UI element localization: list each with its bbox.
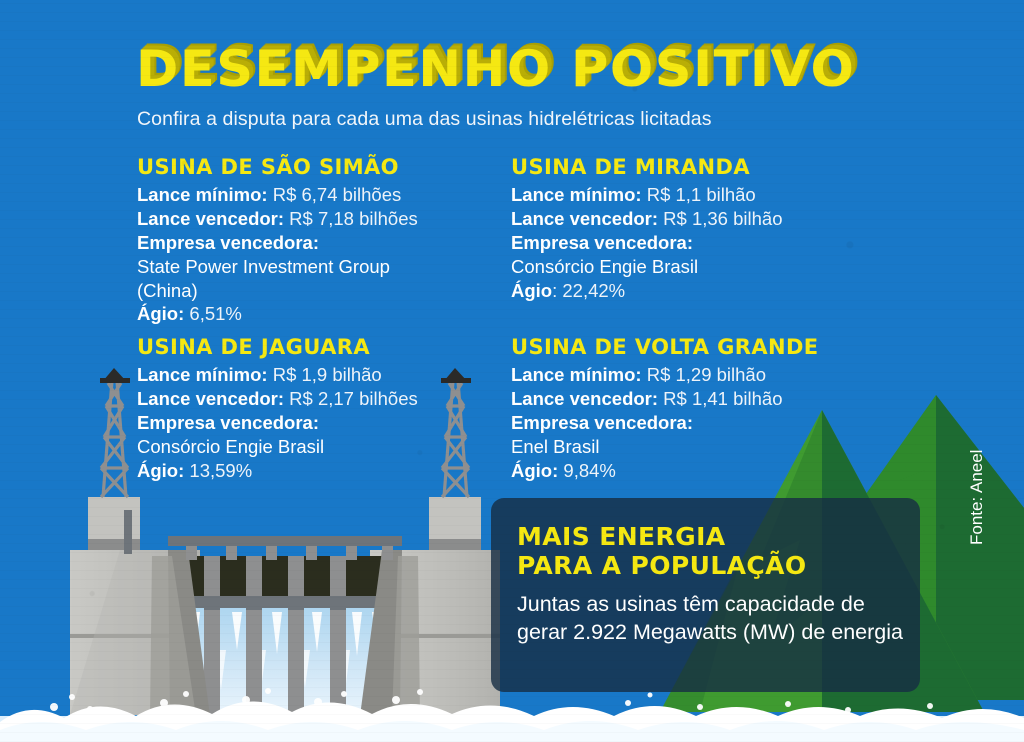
- lance-vencedor-label: Lance vencedor:: [511, 208, 658, 229]
- agio-row: Ágio: 13,59%: [137, 459, 537, 483]
- page-subtitle: Confira a disputa para cada uma das usin…: [137, 108, 712, 131]
- lance-vencedor-value: R$ 2,17 bilhões: [289, 388, 418, 409]
- agio-label: Ágio:: [137, 460, 184, 481]
- empresa-vencedora-label: Empresa vencedora:: [511, 232, 693, 253]
- lance-minimo-row: Lance mínimo: R$ 6,74 bilhões: [137, 183, 537, 207]
- lance-minimo-value: R$ 6,74 bilhões: [273, 184, 402, 205]
- agio-row: Ágio: 22,42%: [511, 279, 911, 303]
- agio-row: Ágio: 6,51%: [137, 302, 537, 326]
- lance-vencedor-value: R$ 7,18 bilhões: [289, 208, 418, 229]
- lance-minimo-label: Lance mínimo:: [511, 364, 642, 385]
- plant-name: USINA DE MIRANDA: [511, 156, 911, 179]
- plant-name: USINA DE SÃO SIMÃO: [137, 156, 537, 179]
- lance-minimo-value: R$ 1,29 bilhão: [647, 364, 766, 385]
- agio-value: 13,59%: [189, 460, 252, 481]
- empresa-vencedora-row: Empresa vencedora:: [137, 231, 537, 255]
- lance-vencedor-row: Lance vencedor: R$ 1,36 bilhão: [511, 207, 911, 231]
- empresa-vencedora-label: Empresa vencedora:: [137, 232, 319, 253]
- lance-vencedor-value: R$ 1,36 bilhão: [663, 208, 782, 229]
- agio-label: Ágio: [511, 280, 552, 301]
- empresa-vencedora-value-line1: Enel Brasil: [511, 435, 911, 459]
- callout-heading: MAIS ENERGIA PARA A POPULAÇÃO: [517, 522, 807, 580]
- lance-minimo-label: Lance mínimo:: [511, 184, 642, 205]
- empresa-vencedora-label: Empresa vencedora:: [511, 412, 693, 433]
- source-credit: Fonte: Aneel: [967, 450, 987, 545]
- lance-vencedor-row: Lance vencedor: R$ 1,41 bilhão: [511, 387, 911, 411]
- callout-panel: MAIS ENERGIA PARA A POPULAÇÃO Juntas as …: [491, 498, 920, 692]
- lance-minimo-value: R$ 1,9 bilhão: [273, 364, 382, 385]
- agio-row: Ágio: 9,84%: [511, 459, 911, 483]
- agio-value: : 22,42%: [552, 280, 625, 301]
- page-title: DESEMPENHO POSITIVO: [136, 44, 855, 94]
- empresa-vencedora-label: Empresa vencedora:: [137, 412, 319, 433]
- agio-label: Ágio:: [511, 460, 558, 481]
- lance-minimo-label: Lance mínimo:: [137, 364, 268, 385]
- lance-vencedor-row: Lance vencedor: R$ 7,18 bilhões: [137, 207, 537, 231]
- agio-value: 6,51%: [189, 303, 241, 324]
- lance-vencedor-value: R$ 1,41 bilhão: [663, 388, 782, 409]
- lance-minimo-label: Lance mínimo:: [137, 184, 268, 205]
- agio-value: 9,84%: [563, 460, 615, 481]
- plant-block-jaguara: USINA DE JAGUARA Lance mínimo: R$ 1,9 bi…: [137, 336, 537, 482]
- lance-vencedor-label: Lance vencedor:: [137, 388, 284, 409]
- lance-vencedor-row: Lance vencedor: R$ 2,17 bilhões: [137, 387, 537, 411]
- lance-minimo-row: Lance mínimo: R$ 1,1 bilhão: [511, 183, 911, 207]
- plant-block-volta-grande: USINA DE VOLTA GRANDE Lance mínimo: R$ 1…: [511, 336, 911, 482]
- empresa-vencedora-value-line1: State Power Investment Group: [137, 255, 537, 279]
- agio-label: Ágio:: [137, 303, 184, 324]
- empresa-vencedora-value-line1: Consórcio Engie Brasil: [511, 255, 911, 279]
- infographic-canvas: MAIS ENERGIA PARA A POPULAÇÃO Juntas as …: [0, 0, 1024, 742]
- lance-vencedor-label: Lance vencedor:: [137, 208, 284, 229]
- plant-name: USINA DE VOLTA GRANDE: [511, 336, 911, 359]
- lance-vencedor-label: Lance vencedor:: [511, 388, 658, 409]
- lance-minimo-row: Lance mínimo: R$ 1,29 bilhão: [511, 363, 911, 387]
- lance-minimo-value: R$ 1,1 bilhão: [647, 184, 756, 205]
- empresa-vencedora-row: Empresa vencedora:: [511, 411, 911, 435]
- empresa-vencedora-row: Empresa vencedora:: [137, 411, 537, 435]
- callout-body: Juntas as usinas têm capacidade de gerar…: [517, 590, 907, 647]
- lance-minimo-row: Lance mínimo: R$ 1,9 bilhão: [137, 363, 537, 387]
- empresa-vencedora-row: Empresa vencedora:: [511, 231, 911, 255]
- plant-name: USINA DE JAGUARA: [137, 336, 537, 359]
- callout-heading-line2: PARA A POPULAÇÃO: [517, 551, 807, 580]
- callout-heading-line1: MAIS ENERGIA: [517, 522, 807, 551]
- plant-block-sao-simao: USINA DE SÃO SIMÃO Lance mínimo: R$ 6,74…: [137, 156, 537, 326]
- empresa-vencedora-value-line2: (China): [137, 279, 537, 303]
- empresa-vencedora-value-line1: Consórcio Engie Brasil: [137, 435, 537, 459]
- plant-block-miranda: USINA DE MIRANDA Lance mínimo: R$ 1,1 bi…: [511, 156, 911, 302]
